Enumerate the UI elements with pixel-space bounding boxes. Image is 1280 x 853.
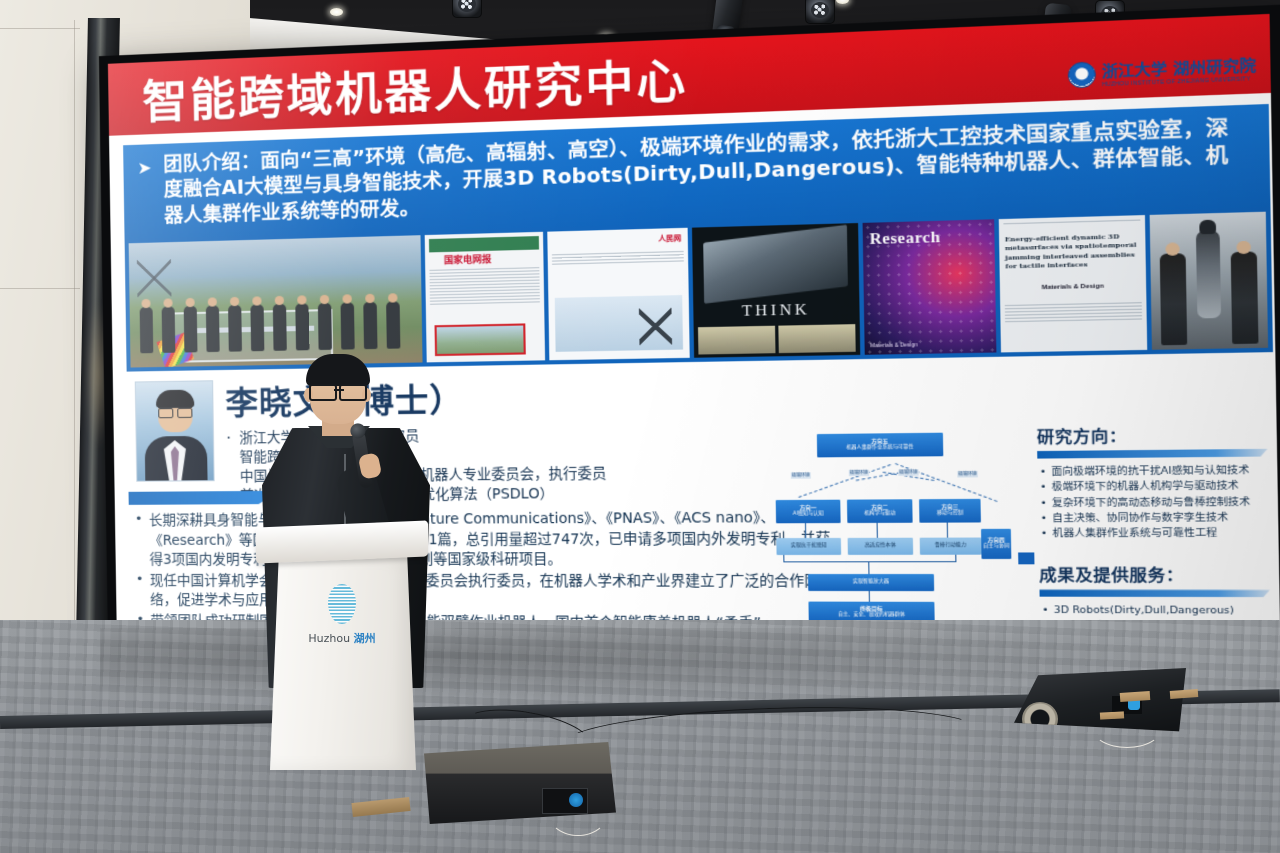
researcher-right bbox=[1231, 251, 1259, 344]
newspaper-masthead bbox=[429, 236, 539, 252]
flow-direction-2: 方向二 机构学与驱动 bbox=[847, 499, 913, 523]
list-item: 极端环境下的机器人机构学与驱动技术 bbox=[1038, 479, 1269, 496]
team-members bbox=[133, 287, 418, 354]
journal-section: Materials & Design bbox=[870, 342, 917, 349]
research-directions-heading: 研究方向： bbox=[1037, 422, 1268, 447]
paper-header-lines bbox=[1003, 220, 1140, 227]
research-flowchart: 方向五 机器人集群作业系统与可靠性 极端环境 极端环境 极端环境 极端环境 方向… bbox=[748, 432, 1012, 624]
paper-body-lines bbox=[1005, 302, 1142, 324]
newspaper-title: 国家电网报 bbox=[444, 252, 492, 267]
heading-underline bbox=[1037, 449, 1267, 459]
podium-logo-en: Huzhou bbox=[308, 632, 350, 645]
paper-title-2: Materials & Design bbox=[1006, 283, 1141, 292]
researcher-left bbox=[1160, 253, 1187, 345]
par-light bbox=[452, 0, 482, 18]
outcomes-heading: 成果及提供服务： bbox=[1039, 564, 1270, 587]
podium-top bbox=[256, 520, 428, 563]
podium: Huzhou 湖州 bbox=[262, 524, 422, 770]
think-device-figure: THINK bbox=[692, 223, 860, 358]
list-item: 复杂环境下的高动态移动与鲁棒控制技术 bbox=[1038, 495, 1269, 512]
humanoid-robot bbox=[1196, 230, 1221, 318]
state-grid-newspaper: 国家电网报 bbox=[425, 232, 545, 363]
flow-node-label: 自主与协同 bbox=[983, 544, 1009, 550]
list-item: 3D Robots(Dirty,Dull,Dangerous) bbox=[1040, 604, 1271, 620]
flow-sub-3: 鲁棒行动能力 bbox=[920, 538, 982, 555]
flow-edge-label: 极端环境 bbox=[957, 471, 978, 478]
team-field-photo bbox=[129, 235, 423, 367]
sample-photos bbox=[698, 324, 856, 354]
flow-converge: 实现智能放大器 bbox=[808, 574, 934, 591]
flow-edge-label: 极端环境 bbox=[791, 472, 811, 479]
power-cable bbox=[548, 790, 608, 836]
article-figure bbox=[555, 295, 683, 352]
flow-sub-1: 实现抗干扰感知 bbox=[776, 538, 841, 555]
flow-node-label: 机构学与驱动 bbox=[864, 511, 895, 517]
flow-node-label: AI感知与认知 bbox=[793, 512, 824, 518]
flow-node-top: 方向五 机器人集群作业系统与可靠性 bbox=[817, 433, 943, 458]
flow-edge-label: 极端环境 bbox=[849, 470, 869, 477]
glasses-icon bbox=[158, 407, 192, 416]
university-emblem-icon bbox=[1068, 61, 1096, 88]
par-light bbox=[805, 0, 835, 24]
flow-node-label: 移动与控制 bbox=[937, 511, 963, 517]
flow-sub-2: 高适应性本体 bbox=[848, 538, 914, 555]
peoples-daily-logo-icon: 人民网 bbox=[658, 233, 681, 244]
glasses-icon bbox=[308, 384, 368, 397]
peoples-daily-article: 人民网 bbox=[547, 228, 689, 361]
list-item: 自主决策、协同协作与数字孪生技术 bbox=[1038, 510, 1269, 527]
article-lines bbox=[552, 251, 684, 267]
journal-wordmark: Research bbox=[869, 229, 940, 249]
research-directions-list: 面向极端环境的抗干扰AI感知与认知技术 极端环境下的机器人机构学与驱动技术 复杂… bbox=[1037, 463, 1269, 542]
research-journal-cover: Research Materials & Design bbox=[863, 219, 997, 355]
flow-node-label: 机器人集群作业系统与可靠性 bbox=[846, 445, 913, 452]
flow-direction-1: 方向一 AI感知与认知 bbox=[776, 500, 841, 524]
flow-direction-4: 方向四 自主与协同 bbox=[981, 529, 1011, 559]
humanoid-robot-photo bbox=[1150, 212, 1268, 350]
think-wordmark: THINK bbox=[693, 301, 859, 322]
presenter-hair bbox=[306, 354, 370, 386]
podium-logo: Huzhou 湖州 bbox=[287, 584, 397, 646]
paper-negative-poisson: Energy-efficient dynamic 3D metasurfaces… bbox=[999, 215, 1147, 352]
newspaper-photo bbox=[435, 323, 526, 356]
list-item: 现任中国计算机学会（CCF）智能机器人专业委员会执行委员，在机器人学术和产业界建… bbox=[134, 572, 840, 614]
list-item: 长期深耕具身智能与机器人力学领域，在《Nature Communications… bbox=[133, 508, 839, 571]
huzhou-wave-icon bbox=[328, 584, 356, 624]
device-schematic bbox=[703, 225, 848, 304]
downlight bbox=[330, 8, 343, 16]
newspaper-columns bbox=[429, 267, 539, 307]
list-item: 面向极端环境的抗干扰AI感知与认知技术 bbox=[1037, 463, 1268, 480]
cable-tape bbox=[1100, 711, 1124, 719]
podium-logo-zh: 湖州 bbox=[354, 632, 376, 645]
downlight bbox=[836, 0, 849, 4]
flow-node-label: 自主、安全、高效的机器群体 bbox=[838, 613, 905, 619]
avatar bbox=[135, 380, 215, 482]
paper-title-1: Energy-efficient dynamic 3D metasurfaces… bbox=[1005, 233, 1140, 273]
chevron-right-icon: ➤ bbox=[137, 158, 152, 179]
section-tab-marker bbox=[1018, 552, 1034, 564]
flow-edge-label: 极端环境 bbox=[898, 469, 918, 476]
heading-underline bbox=[1040, 590, 1270, 598]
presentation-scene: 智能跨域机器人研究中心 ➤ 团队介绍：面向“三高”环境（高危、高辐射、高空）、极… bbox=[0, 0, 1280, 853]
flow-direction-3: 方向三 移动与控制 bbox=[919, 499, 981, 523]
list-item: 机器人集群作业系统与可靠性工程 bbox=[1038, 526, 1269, 542]
